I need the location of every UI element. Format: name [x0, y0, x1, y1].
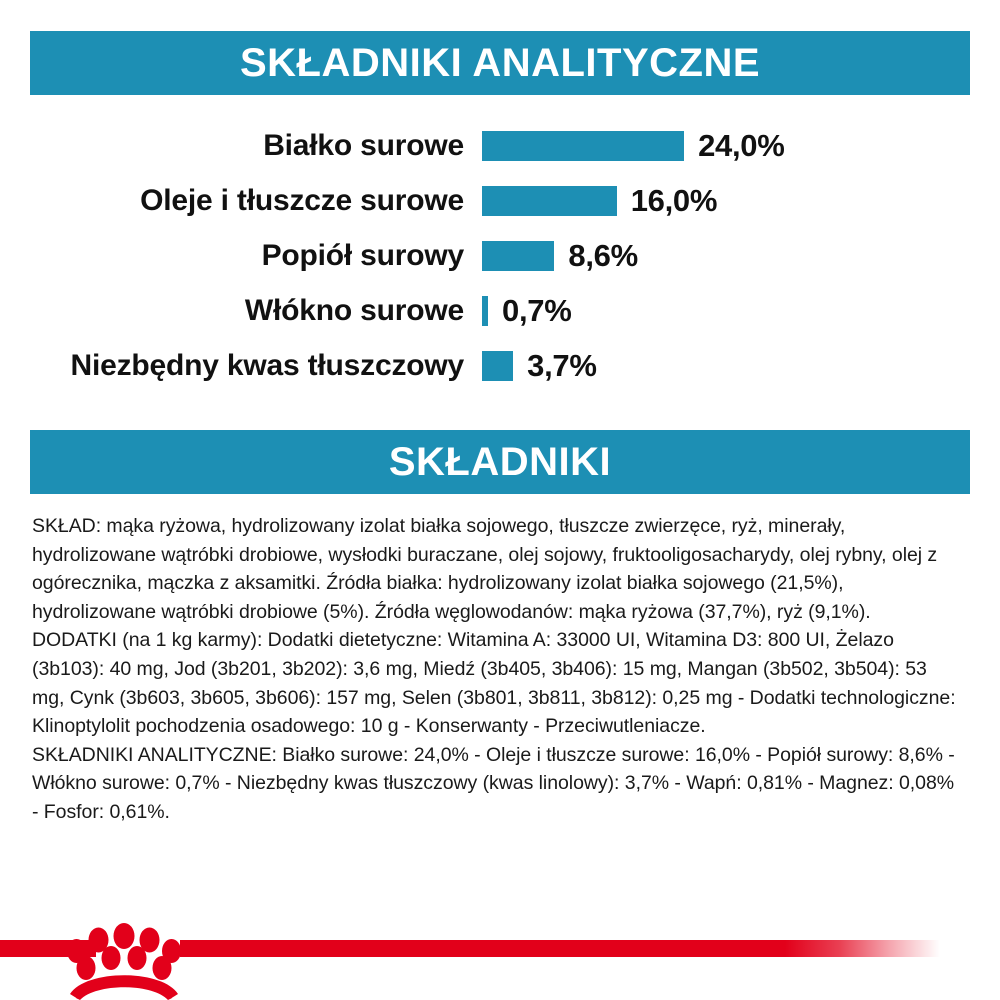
analytical-constituents-banner: SKŁADNIKI ANALITYCZNE: [30, 31, 970, 95]
ingredients-paragraph: SKŁADNIKI ANALITYCZNE: Białko surowe: 24…: [32, 741, 962, 827]
chart-row-bar-area: 24,0%: [482, 128, 1000, 164]
analytical-constituents-chart: Białko surowe24,0%Oleje i tłuszcze surow…: [0, 118, 1000, 403]
chart-row: Popiół surowy8,6%: [0, 228, 1000, 283]
footer-rule-right: [180, 940, 940, 957]
chart-value-label: 8,6%: [568, 238, 637, 274]
ingredients-title: SKŁADNIKI: [389, 440, 611, 485]
chart-value-label: 3,7%: [527, 348, 596, 384]
chart-row-bar-area: 8,6%: [482, 238, 1000, 274]
chart-bar: [482, 296, 488, 326]
chart-row-label: Oleje i tłuszcze surowe: [0, 184, 482, 218]
analytical-constituents-title: SKŁADNIKI ANALITYCZNE: [240, 41, 760, 86]
footer: [0, 930, 1000, 1000]
chart-bar: [482, 131, 684, 161]
chart-row-label: Popiół surowy: [0, 239, 482, 273]
chart-row: Włókno surowe0,7%: [0, 283, 1000, 338]
chart-bar: [482, 241, 554, 271]
chart-value-label: 0,7%: [502, 293, 571, 329]
chart-row: Oleje i tłuszcze surowe16,0%: [0, 173, 1000, 228]
chart-row: Białko surowe24,0%: [0, 118, 1000, 173]
royal-canin-crown-icon: [62, 908, 186, 1000]
chart-row-label: Włókno surowe: [0, 294, 482, 328]
ingredients-text-block: SKŁAD: mąka ryżowa, hydrolizowany izolat…: [32, 512, 962, 827]
chart-row-label: Niezbędny kwas tłuszczowy: [0, 349, 482, 383]
chart-row-bar-area: 0,7%: [482, 293, 1000, 329]
chart-row-bar-area: 3,7%: [482, 348, 1000, 384]
ingredients-paragraph: SKŁAD: mąka ryżowa, hydrolizowany izolat…: [32, 512, 962, 626]
chart-bar: [482, 186, 617, 216]
chart-row: Niezbędny kwas tłuszczowy3,7%: [0, 338, 1000, 393]
chart-row-bar-area: 16,0%: [482, 183, 1000, 219]
ingredients-paragraph: DODATKI (na 1 kg karmy): Dodatki dietety…: [32, 626, 962, 740]
chart-value-label: 24,0%: [698, 128, 784, 164]
chart-value-label: 16,0%: [631, 183, 717, 219]
ingredients-banner: SKŁADNIKI: [30, 430, 970, 494]
chart-bar: [482, 351, 513, 381]
chart-row-label: Białko surowe: [0, 129, 482, 163]
